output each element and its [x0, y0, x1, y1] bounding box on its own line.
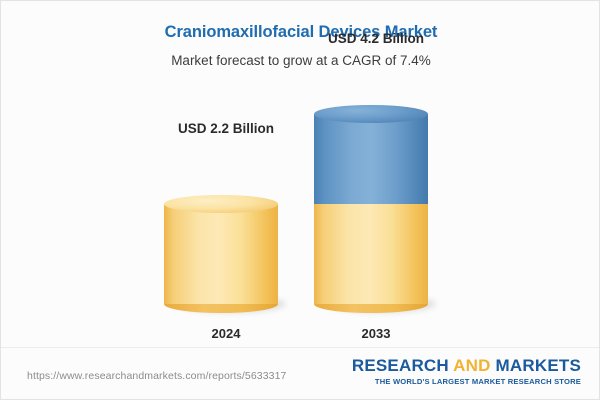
chart-title: Craniomaxillofacial Devices Market [1, 23, 600, 42]
chart-plot-area: USD 2.2 Billion 2024 USD 4.2 Billion [1, 81, 600, 341]
bar-group-2033: USD 4.2 Billion 2033 [314, 81, 438, 341]
bar-segment-body [314, 204, 428, 304]
chart-subtitle: Market forecast to grow at a CAGR of 7.4… [1, 53, 600, 68]
bar-top-ellipse-2033 [314, 105, 428, 123]
axis-label-2024: 2024 [212, 326, 241, 341]
report-url-link[interactable]: https://www.researchandmarkets.com/repor… [27, 370, 286, 382]
bar-segment-base-2033 [314, 204, 428, 304]
market-forecast-infographic: Craniomaxillofacial Devices Market Marke… [0, 0, 600, 400]
logo-wordmark: RESEARCH AND MARKETS [352, 357, 581, 375]
bar-segment-body [164, 204, 278, 304]
bar-segment-growth-2033 [314, 114, 428, 204]
bar-group-2024: USD 2.2 Billion 2024 [164, 81, 288, 341]
bar-value-label-2033: USD 4.2 Billion [328, 31, 424, 46]
bar-segment-base-2024 [164, 204, 278, 304]
footer-divider [1, 347, 600, 348]
bar-cylinder-2024 [164, 204, 278, 304]
logo-text-research: RESEARCH [352, 356, 453, 375]
research-and-markets-logo[interactable]: RESEARCH AND MARKETS THE WORLD'S LARGEST… [352, 357, 581, 386]
bar-cylinder-2033 [314, 114, 428, 304]
logo-text-markets: MARKETS [491, 356, 581, 375]
logo-text-and: AND [453, 356, 490, 375]
bar-segment-body [314, 114, 428, 204]
logo-tagline: THE WORLD'S LARGEST MARKET RESEARCH STOR… [352, 377, 581, 386]
bar-value-label-2024: USD 2.2 Billion [178, 121, 274, 136]
axis-label-2033: 2033 [362, 326, 391, 341]
bar-top-ellipse-2024 [164, 195, 278, 213]
